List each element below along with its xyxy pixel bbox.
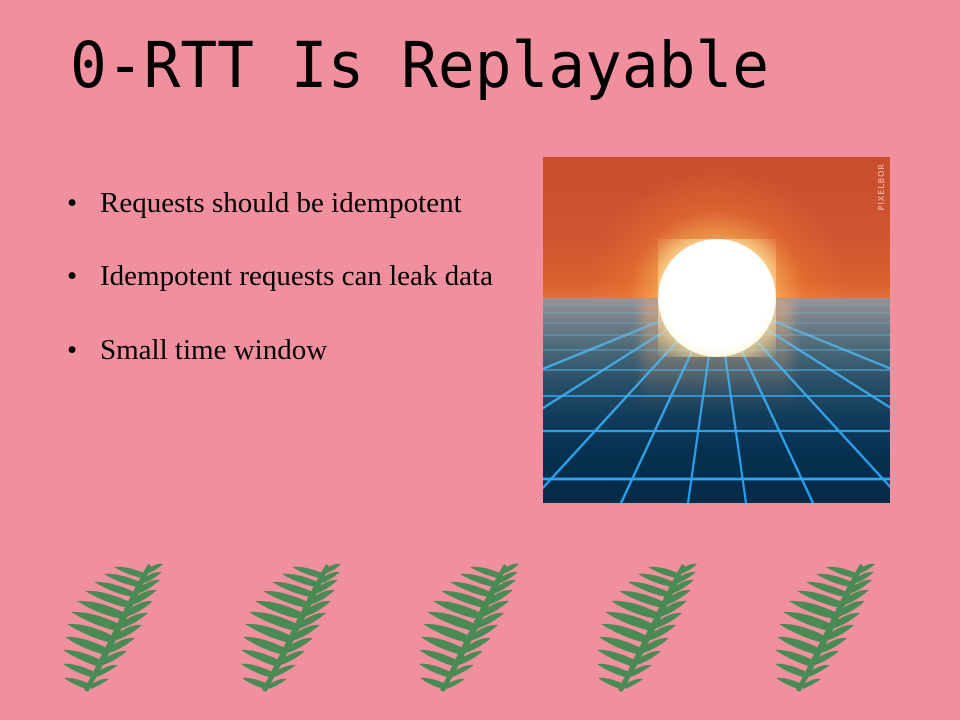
fern-icon [586,556,706,706]
synthwave-sunset-image: PIXELBOR [543,157,890,503]
bullet-marker-icon: • [67,259,77,294]
watermark-label: PIXELBOR [877,163,886,210]
bullet-marker-icon: • [67,333,77,368]
list-item: • Idempotent requests can leak data [62,259,512,294]
bullet-list: • Requests should be idempotent • Idempo… [62,186,512,368]
presentation-slide: 0-RTT Is Replayable • Requests should be… [0,0,960,720]
list-item-label: Small time window [100,333,512,368]
list-item: • Small time window [62,333,512,368]
list-item-label: Idempotent requests can leak data [100,259,512,294]
fern-icon [52,556,172,706]
list-item-label: Requests should be idempotent [100,186,512,221]
page-title: 0-RTT Is Replayable [70,34,875,97]
fern-icon [230,556,350,706]
fern-icon [764,556,884,706]
fern-decoration-row [0,556,960,720]
fern-icon [408,556,528,706]
list-item: • Requests should be idempotent [62,186,512,221]
bullet-marker-icon: • [67,186,77,221]
sun-icon [658,239,776,357]
